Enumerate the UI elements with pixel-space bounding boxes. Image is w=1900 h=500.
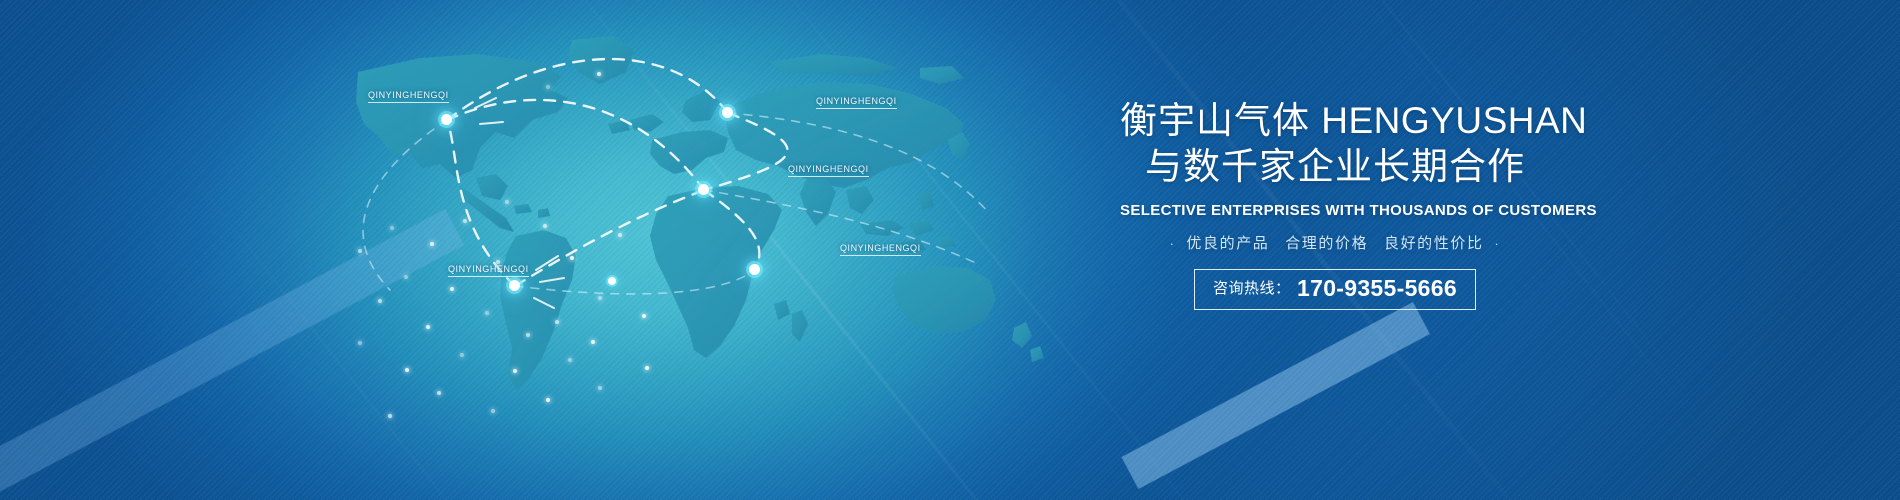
map-node-oceania [749,264,760,275]
map-label-east-asia: QINYINGHENGQI [816,96,897,109]
map-particle [463,219,467,223]
map-particle [513,369,517,373]
map-particle [388,414,392,418]
map-particle [526,333,530,337]
map-particle [543,224,547,228]
map-particle [358,249,362,253]
tagline-segment-1: 优良的产品 [1186,235,1269,252]
map-particle [642,314,646,318]
map-particle [546,85,550,89]
headline-line-1: 衡宇山气体 HENGYUSHAN [1120,98,1550,144]
promo-banner: QINYINGHENGQI QINYINGHENGQI QINYINGHENGQ… [0,0,1900,500]
map-particle [555,320,559,324]
map-particle [405,368,409,372]
map-particle [546,398,550,402]
map-node-south-asia [698,184,709,195]
map-particle [598,386,602,390]
map-particle [358,341,362,345]
hotline-box[interactable]: 咨询热线： 170-9355-5666 [1194,269,1476,310]
map-label-south-america: QINYINGHENGQI [448,264,529,277]
map-label-oceania: QINYINGHENGQI [840,243,921,256]
map-particle [597,72,601,76]
map-particle [485,311,489,315]
subtitle-text: SELECTIVE ENTERPRISES WITH THOUSANDS OF … [1120,202,1550,219]
world-map: QINYINGHENGQI QINYINGHENGQI QINYINGHENGQ… [300,28,1080,448]
map-particle [404,275,408,279]
map-particle [450,287,454,291]
tagline-segment-2: 合理的价格 [1285,235,1368,252]
tagline-dot-right: · [1494,236,1500,251]
map-node-africa [608,277,616,285]
map-particle [645,366,649,370]
map-particle [570,256,574,260]
map-particle [460,353,464,357]
map-particle [496,260,500,264]
hotline-number: 170-9355-5666 [1297,275,1457,301]
hotline-label: 咨询热线： [1213,280,1291,297]
map-node-east-asia [722,107,733,118]
map-particle [491,409,495,413]
map-particle [430,242,434,246]
map-particle [598,296,602,300]
headline-brand-cn: 衡宇山气体 [1120,100,1310,141]
map-particle [390,226,394,230]
map-continents [356,36,1044,390]
map-particle [426,325,430,329]
map-particle [505,200,509,204]
tagline: · 优良的产品 合理的价格 良好的性价比 · [1120,232,1550,253]
map-particle [378,299,382,303]
map-node-north-america [441,114,452,125]
map-node-south-america [509,280,520,291]
map-particle [618,233,622,237]
tagline-segment-3: 良好的性价比 [1384,235,1484,252]
promo-text-block: 衡宇山气体 HENGYUSHAN 与数千家企业长期合作 SELECTIVE EN… [1120,98,1550,310]
map-particle [568,358,572,362]
map-label-south-asia: QINYINGHENGQI [788,164,869,177]
tagline-dot-left: · [1170,236,1176,251]
map-label-north-america: QINYINGHENGQI [368,90,449,103]
headline-line-2: 与数千家企业长期合作 [1120,144,1550,190]
map-particle [591,340,595,344]
map-particle [437,391,441,395]
headline-brand-en: HENGYUSHAN [1321,100,1587,141]
